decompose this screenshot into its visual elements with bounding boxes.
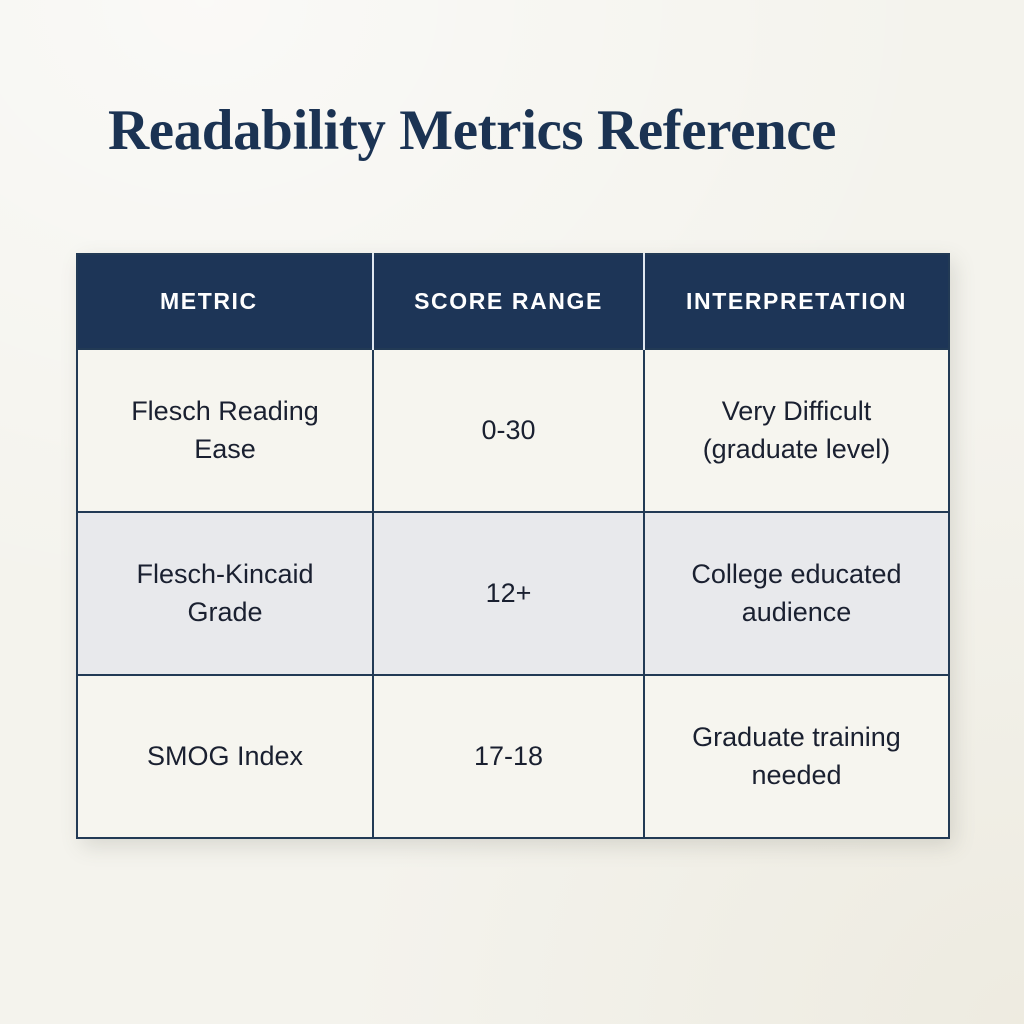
cell-metric: Flesch-Kincaid Grade	[77, 512, 373, 675]
cell-metric: SMOG Index	[77, 675, 373, 838]
column-header-metric: METRIC	[77, 254, 373, 349]
readability-metrics-table: METRIC SCORE RANGE INTERPRETATION Flesch…	[76, 253, 950, 839]
cell-score-range: 12+	[373, 512, 644, 675]
cell-score-range: 17-18	[373, 675, 644, 838]
cell-interpretation: College educated audience	[644, 512, 949, 675]
cell-score-range: 0-30	[373, 349, 644, 512]
table-header-row: METRIC SCORE RANGE INTERPRETATION	[77, 254, 949, 349]
table-header: METRIC SCORE RANGE INTERPRETATION	[77, 254, 949, 349]
metrics-table-container: METRIC SCORE RANGE INTERPRETATION Flesch…	[76, 253, 948, 838]
cell-interpretation: Graduate training needed	[644, 675, 949, 838]
table-row: SMOG Index 17-18 Graduate training neede…	[77, 675, 949, 838]
reference-sheet: Readability Metrics Reference METRIC SCO…	[0, 0, 1024, 1024]
column-header-interpretation: INTERPRETATION	[644, 254, 949, 349]
column-header-score-range: SCORE RANGE	[373, 254, 644, 349]
page-title: Readability Metrics Reference	[108, 98, 836, 163]
table-body: Flesch Reading Ease 0-30 Very Difficult …	[77, 349, 949, 838]
table-row: Flesch Reading Ease 0-30 Very Difficult …	[77, 349, 949, 512]
table-row: Flesch-Kincaid Grade 12+ College educate…	[77, 512, 949, 675]
cell-metric: Flesch Reading Ease	[77, 349, 373, 512]
cell-interpretation: Very Difficult (graduate level)	[644, 349, 949, 512]
